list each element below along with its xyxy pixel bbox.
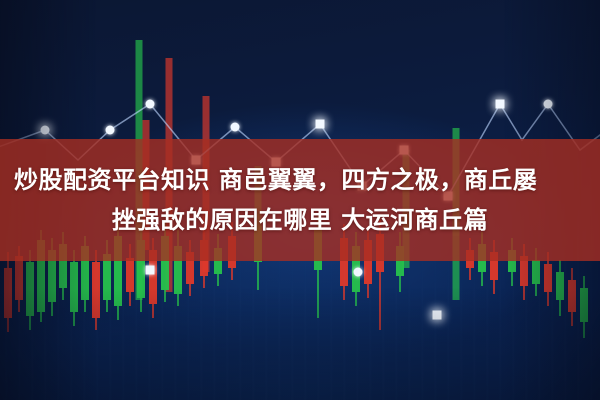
headline-line-2: 挫强敌的原因在哪里 大运河商丘篇 <box>10 200 590 240</box>
banner-image: 炒股配资平台知识 商邑翼翼，四方之极，商丘屡 挫强敌的原因在哪里 大运河商丘篇 <box>0 0 600 400</box>
headline-line-1: 炒股配资平台知识 商邑翼翼，四方之极，商丘屡 <box>10 160 590 200</box>
headline-text-block: 炒股配资平台知识 商邑翼翼，四方之极，商丘屡 挫强敌的原因在哪里 大运河商丘篇 <box>0 139 600 261</box>
